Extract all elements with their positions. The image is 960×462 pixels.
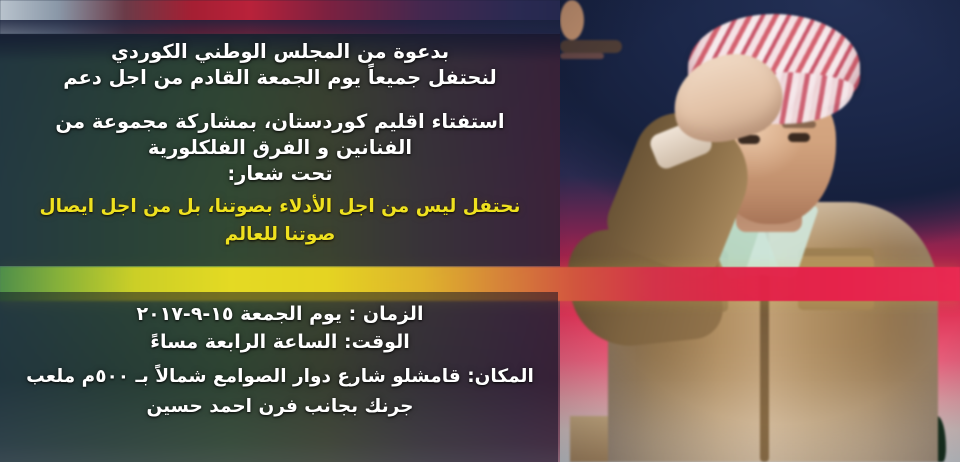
time-line: الوقت: الساعة الرابعة مساءً xyxy=(0,331,560,353)
performers-line: الفنانين و الفرق الفلكلورية xyxy=(0,136,560,159)
photo-vignette xyxy=(560,0,960,462)
celebration-line: لنحتفل جميعاً يوم الجمعة القادم من اجل د… xyxy=(0,66,560,89)
invitation-line: بدعوة من المجلس الوطني الكوردي xyxy=(0,40,560,63)
slogan-line-2: صوتنا للعالم xyxy=(0,224,560,246)
portrait-photo xyxy=(560,0,960,462)
place-line-2: جرنك بجانب فرن احمد حسين xyxy=(0,396,560,418)
slogan-label: تحت شعار: xyxy=(0,162,560,185)
referendum-line: استفتاء اقليم كوردستان، بمشاركة مجموعة م… xyxy=(0,110,560,133)
slogan-line-1: نحتفل ليس من اجل الأدلاء بصوتنا، بل من ا… xyxy=(0,196,560,218)
place-line-1: المكان: قامشلو شارع دوار الصوامع شمالاً … xyxy=(0,366,560,388)
date-line: الزمان : يوم الجمعة ١٥-٩-٢٠١٧ xyxy=(0,303,560,325)
poster-canvas: بدعوة من المجلس الوطني الكوردي لنحتفل جم… xyxy=(0,0,960,462)
